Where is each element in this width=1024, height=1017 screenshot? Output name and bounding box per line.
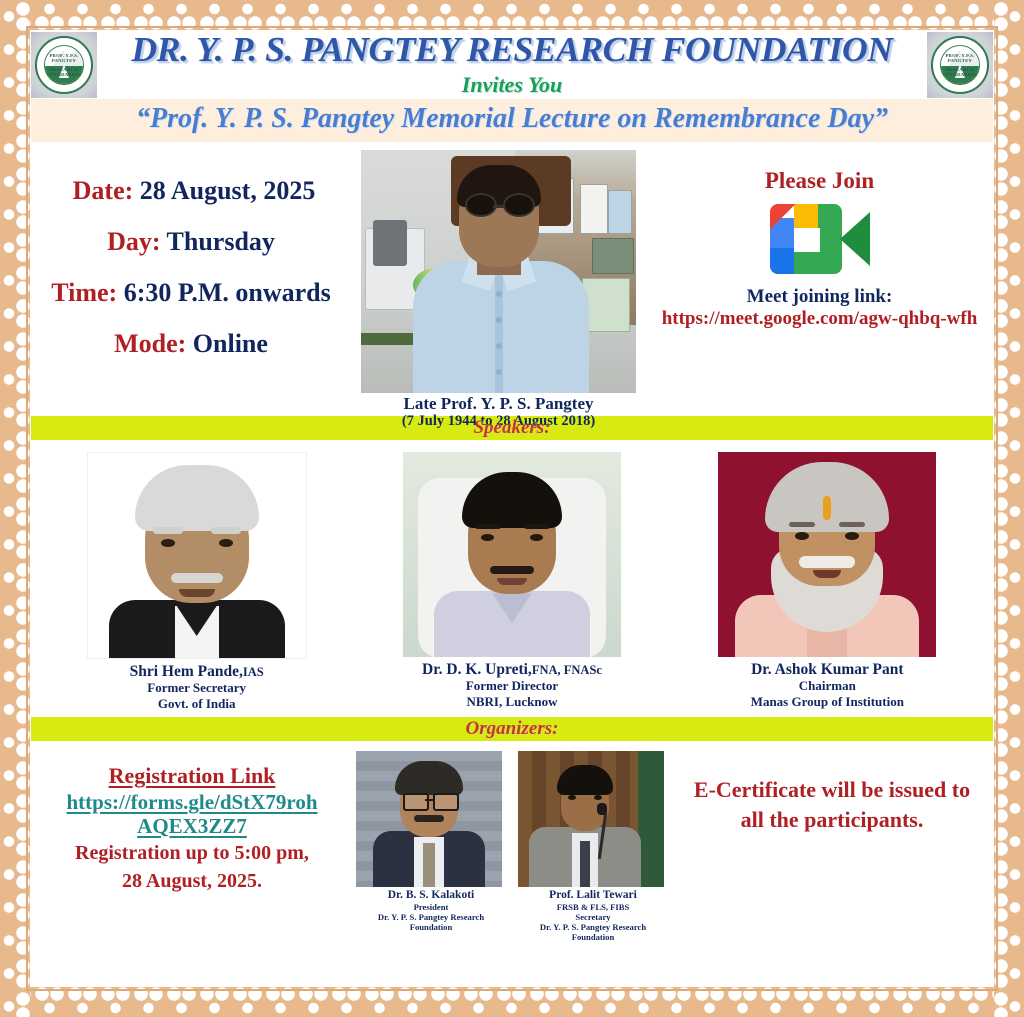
meet-link-label: Meet joining link: xyxy=(646,286,993,308)
speaker-name-text: Dr. D. K. Upreti, xyxy=(422,661,532,678)
memorial-name: Late Prof. Y. P. S. Pangtey xyxy=(351,395,646,413)
speaker-photo xyxy=(718,452,936,657)
organizer-photo xyxy=(518,751,664,887)
speaker-photo xyxy=(403,452,621,657)
invites-text: Invites You xyxy=(103,72,921,98)
header-titles: DR. Y. P. S. PANGTEY RESEARCH FOUNDATION… xyxy=(97,32,927,98)
registration-deadline-line2: 28 August, 2025. xyxy=(37,870,347,894)
registration-block: Registration Link https://forms.gle/dStX… xyxy=(37,751,347,893)
registration-url-line1[interactable]: https://forms.gle/dStX79roh xyxy=(37,791,347,815)
certificate-line2: all the participants. xyxy=(677,805,987,835)
speaker-name: Shri Hem Pande,IAS xyxy=(47,663,347,680)
speakers-band: Speakers: xyxy=(31,414,993,440)
event-day: Day: Thursday xyxy=(31,227,351,257)
registration-deadline-line1: Registration up to 5:00 pm, xyxy=(37,842,347,866)
speaker-name: Dr. D. K. Upreti,FNA, FNASc xyxy=(362,661,662,678)
lecture-title: “Prof. Y. P. S. Pangtey Memorial Lecture… xyxy=(31,103,993,135)
organizer-affiliation-line2: Foundation xyxy=(518,932,668,942)
mode-value: Online xyxy=(193,329,268,358)
organizer-card: Dr. B. S. Kalakoti President Dr. Y. P. S… xyxy=(356,751,506,942)
border-top-ornament xyxy=(0,0,1024,30)
event-date: Date: 28 August, 2025 xyxy=(31,176,351,206)
registration-url-line2[interactable]: AQEX3ZZ7 xyxy=(37,815,347,839)
logo-top-text: PROF. Y.P.S. PANGTEY xyxy=(941,53,979,63)
organizers-band-label: Organizers: xyxy=(466,718,559,739)
organization-title: DR. Y. P. S. PANGTEY RESEARCH FOUNDATION xyxy=(95,32,929,67)
foundation-logo-left: PROF. Y.P.S. PANGTEY RESEARCH FOUNDATION xyxy=(31,32,97,98)
speaker-suffix: IAS xyxy=(243,665,264,679)
speaker-card: Dr. Ashok Kumar Pant Chairman Manas Grou… xyxy=(677,452,977,709)
time-label: Time: xyxy=(51,278,117,307)
speaker-suffix: FNA, FNASc xyxy=(532,663,602,677)
event-mode: Mode: Online xyxy=(31,329,351,359)
date-value: 28 August, 2025 xyxy=(140,176,316,205)
speaker-card: Dr. D. K. Upreti,FNA, FNASc Former Direc… xyxy=(362,452,662,709)
organizer-affiliation-line2: Foundation xyxy=(356,922,506,932)
lecture-title-band: “Prof. Y. P. S. Pangtey Memorial Lecture… xyxy=(31,99,993,142)
logo-top-text: PROF. Y.P.S. PANGTEY xyxy=(45,53,83,63)
event-details-row: Date: 28 August, 2025 Day: Thursday Time… xyxy=(31,142,993,414)
speaker-name-text: Shri Hem Pande, xyxy=(130,663,243,680)
speaker-role: Chairman xyxy=(677,678,977,693)
speaker-role: Former Secretary xyxy=(47,680,347,695)
poster-content: PROF. Y.P.S. PANGTEY RESEARCH FOUNDATION… xyxy=(31,31,993,986)
speaker-affiliation: Govt. of India xyxy=(47,696,347,711)
join-column: Please Join Meet joining link: https://m… xyxy=(646,150,993,330)
speaker-photo xyxy=(87,452,307,659)
speaker-affiliation: Manas Group of Institution xyxy=(677,694,977,709)
certificate-block: E-Certificate will be issued to all the … xyxy=(677,751,987,834)
mode-label: Mode: xyxy=(114,329,186,358)
certificate-line1: E-Certificate will be issued to xyxy=(677,775,987,805)
memorial-column: Late Prof. Y. P. S. Pangtey (7 July 1944… xyxy=(351,150,646,430)
google-meet-icon xyxy=(770,200,870,278)
organizers-row: Registration Link https://forms.gle/dStX… xyxy=(31,741,993,956)
organizer-affiliation-line1: Dr. Y. P. S. Pangtey Research xyxy=(518,922,668,932)
memorial-portrait-photo xyxy=(361,150,636,393)
registration-title: Registration Link xyxy=(37,763,347,789)
day-label: Day: xyxy=(107,227,160,256)
border-bottom-ornament xyxy=(0,987,1024,1017)
border-right-ornament xyxy=(994,0,1024,1017)
event-time: Time: 6:30 P.M. onwards xyxy=(31,278,351,308)
speaker-name: Dr. Ashok Kumar Pant xyxy=(677,661,977,678)
organizer-role: Secretary xyxy=(518,912,668,922)
logo-bottom-text: RESEARCH FOUNDATION xyxy=(45,67,83,77)
organizer-card: Prof. Lalit Tewari FRSB & FLS, FIBS Secr… xyxy=(518,751,668,942)
organizer-name: Dr. B. S. Kalakoti xyxy=(356,889,506,902)
organizer-affiliation-line1: Dr. Y. P. S. Pangtey Research xyxy=(356,912,506,922)
meet-link-url[interactable]: https://meet.google.com/agw-qhbq-wfh xyxy=(646,308,993,330)
organizer-photo xyxy=(356,751,502,887)
border-left-ornament xyxy=(0,0,30,1017)
speaker-role: Former Director xyxy=(362,678,662,693)
time-value: 6:30 P.M. onwards xyxy=(124,278,331,307)
organizers-band: Organizers: xyxy=(31,715,993,741)
please-join-heading: Please Join xyxy=(646,168,993,194)
organizer-name: Prof. Lalit Tewari xyxy=(518,889,668,902)
organizer-credentials: FRSB & FLS, FIBS xyxy=(518,902,668,912)
event-details-column: Date: 28 August, 2025 Day: Thursday Time… xyxy=(31,150,351,380)
speakers-band-label: Speakers: xyxy=(473,417,550,438)
speaker-affiliation: NBRI, Lucknow xyxy=(362,694,662,709)
day-value: Thursday xyxy=(167,227,275,256)
speaker-card: Shri Hem Pande,IAS Former Secretary Govt… xyxy=(47,452,347,711)
speakers-row: Shri Hem Pande,IAS Former Secretary Govt… xyxy=(31,440,993,715)
poster-header: PROF. Y.P.S. PANGTEY RESEARCH FOUNDATION… xyxy=(31,31,993,99)
organizer-role: President xyxy=(356,902,506,912)
foundation-logo-right: PROF. Y.P.S. PANGTEY RESEARCH FOUNDATION xyxy=(927,32,993,98)
poster-root: PROF. Y.P.S. PANGTEY RESEARCH FOUNDATION… xyxy=(0,0,1024,1017)
organizer-photos: Dr. B. S. Kalakoti President Dr. Y. P. S… xyxy=(347,751,677,942)
date-label: Date: xyxy=(73,176,134,205)
speaker-name-text: Dr. Ashok Kumar Pant xyxy=(751,661,903,678)
logo-bottom-text: RESEARCH FOUNDATION xyxy=(941,67,979,77)
